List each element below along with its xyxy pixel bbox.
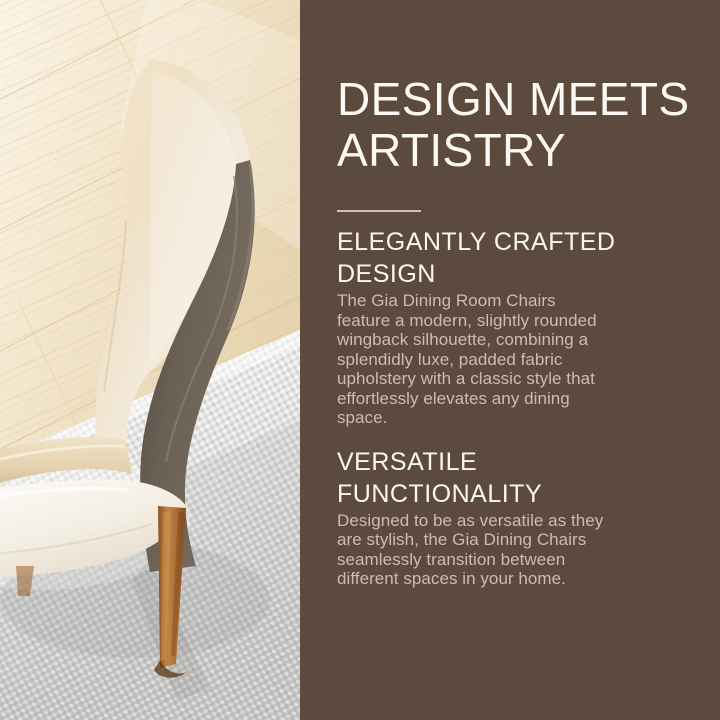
- section-title-versatile-functionality: VERSATILE FUNCTIONALITY: [337, 446, 698, 510]
- section-body-elegantly-crafted-design: The Gia Dining Room Chairs feature a mod…: [337, 291, 698, 428]
- feature-section-versatility: VERSATILE FUNCTIONALITY Designed to be a…: [337, 428, 698, 589]
- feature-section-design: ELEGANTLY CRAFTED DESIGN The Gia Dining …: [337, 212, 698, 428]
- section-title-elegantly-crafted-design: ELEGANTLY CRAFTED DESIGN: [337, 226, 698, 290]
- page-title: DESIGN MEETS ARTISTRY: [337, 0, 698, 176]
- promo-card: DESIGN MEETS ARTISTRY ELEGANTLY CRAFTED …: [0, 0, 720, 720]
- product-photo: [0, 0, 300, 720]
- product-photo-illustration: [0, 0, 300, 720]
- content-panel: DESIGN MEETS ARTISTRY ELEGANTLY CRAFTED …: [300, 0, 720, 720]
- section-body-versatile-functionality: Designed to be as versatile as they are …: [337, 511, 698, 589]
